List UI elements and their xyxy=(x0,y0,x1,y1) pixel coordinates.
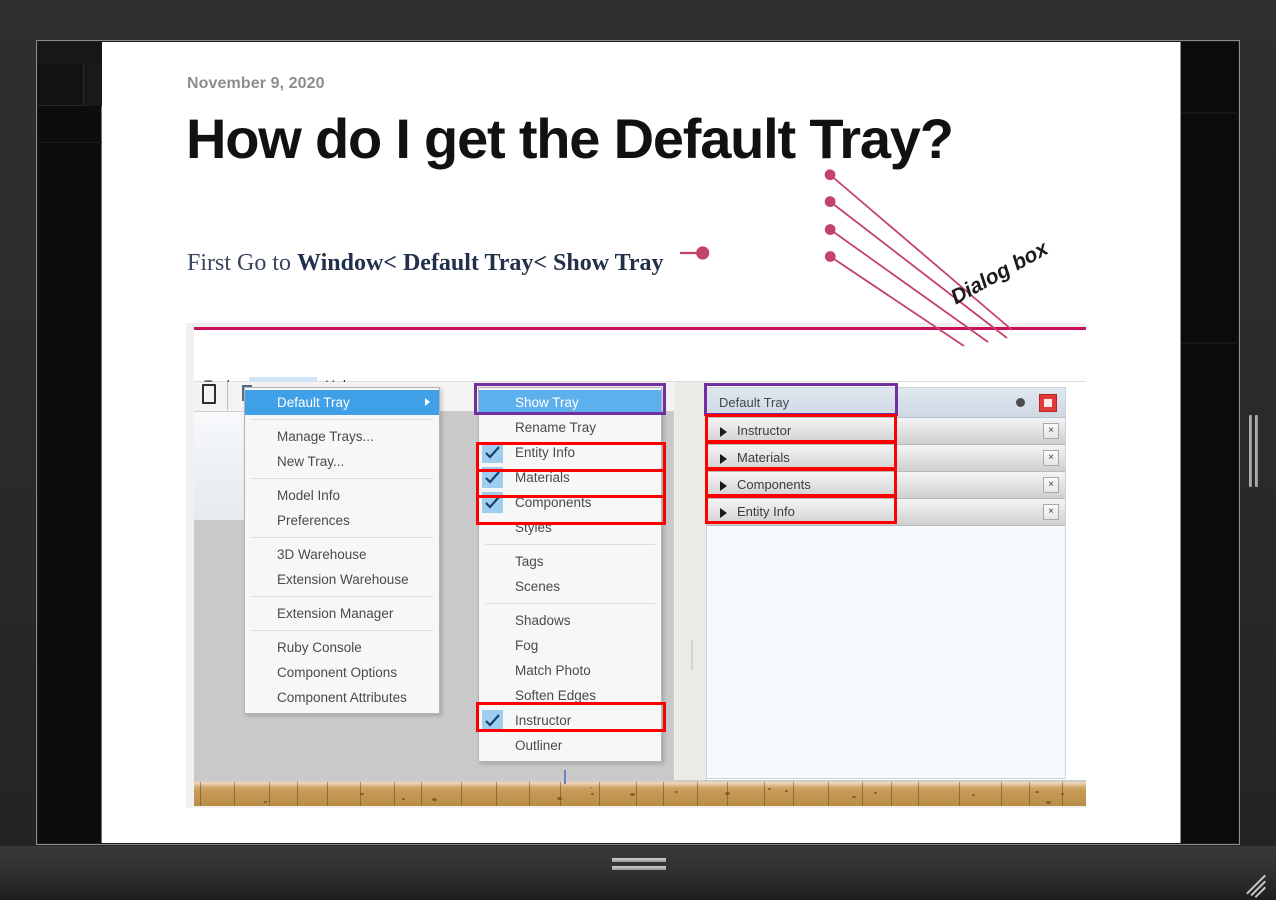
document-page: November 9, 2020 How do I get the Defaul… xyxy=(102,42,1180,843)
floor-knot xyxy=(557,797,562,800)
submenu-item-entity-info[interactable]: Entity Info xyxy=(479,440,661,465)
default-tray-submenu[interactable]: Show Tray Rename Tray Entity Info Materi… xyxy=(478,387,662,762)
floor-knot xyxy=(768,788,771,790)
menu-item-label: Default Tray xyxy=(277,395,350,410)
menu-item-model-info[interactable]: Model Info xyxy=(245,483,439,508)
submenu-item-label: Instructor xyxy=(515,713,571,728)
checkmark-icon xyxy=(482,442,503,463)
floor-plank xyxy=(918,782,919,806)
floor-knot xyxy=(874,792,877,794)
submenu-separator xyxy=(485,603,655,604)
submenu-item-outliner[interactable]: Outliner xyxy=(479,733,661,758)
submenu-item-shadows[interactable]: Shadows xyxy=(479,608,661,633)
gutter-tick xyxy=(691,640,693,670)
checkmark-icon xyxy=(482,492,503,513)
grip-line xyxy=(1249,415,1252,487)
floor-plank xyxy=(496,782,497,806)
floor-plank xyxy=(529,782,530,806)
floor-plank xyxy=(764,782,765,806)
menu-separator xyxy=(251,478,433,479)
submenu-item-label: Entity Info xyxy=(515,445,575,460)
checkmark-icon xyxy=(482,710,503,731)
floor-plank xyxy=(394,782,395,806)
floor-plank xyxy=(636,782,637,806)
menu-separator xyxy=(251,537,433,538)
menu-item-preferences[interactable]: Preferences xyxy=(245,508,439,533)
triangle-right-icon[interactable] xyxy=(720,454,727,464)
submenu-item-instructor[interactable]: Instructor xyxy=(479,708,661,733)
close-icon[interactable] xyxy=(1039,394,1057,412)
floor-knot xyxy=(360,793,364,795)
submenu-item-tags[interactable]: Tags xyxy=(479,549,661,574)
submenu-item-soften-edges[interactable]: Soften Edges xyxy=(479,683,661,708)
window-dropdown-menu[interactable]: Default Tray Manage Trays... New Tray...… xyxy=(244,387,440,714)
tool-icon-a[interactable] xyxy=(202,384,216,404)
floor-knot xyxy=(432,798,437,801)
floor-plank xyxy=(1001,782,1002,806)
floor-plank xyxy=(862,782,863,806)
tray-title-label: Default Tray xyxy=(719,395,789,410)
viewport-sky xyxy=(194,412,246,520)
device-frame: November 9, 2020 How do I get the Defaul… xyxy=(0,0,1276,900)
default-tray-dialog[interactable]: Default Tray Instructor × Materials × Co xyxy=(706,387,1066,779)
tray-section-materials[interactable]: Materials × xyxy=(707,445,1065,472)
floor-knot xyxy=(1035,791,1039,793)
submenu-item-label: Materials xyxy=(515,470,570,485)
menu-item-ruby-console[interactable]: Ruby Console xyxy=(245,635,439,660)
app-menu-bar: Tools Window Help xyxy=(194,330,1086,382)
resize-corner-icon[interactable] xyxy=(1240,864,1266,890)
tray-section-instructor[interactable]: Instructor × xyxy=(707,418,1065,445)
grip-line xyxy=(612,858,666,862)
subtitle-path: Window< Default Tray< Show Tray xyxy=(297,250,664,276)
section-close-icon[interactable]: × xyxy=(1043,477,1059,493)
document-date: November 9, 2020 xyxy=(187,75,325,93)
grip-line xyxy=(1255,415,1258,487)
triangle-right-icon[interactable] xyxy=(720,481,727,491)
tray-section-label: Instructor xyxy=(737,423,791,438)
menu-item-component-options[interactable]: Component Options xyxy=(245,660,439,685)
floor-plank xyxy=(891,782,892,806)
floor-plank xyxy=(200,782,201,806)
floor-plank xyxy=(269,782,270,806)
floor-plank xyxy=(599,782,600,806)
tray-section-components[interactable]: Components × xyxy=(707,472,1065,499)
tray-section-label: Components xyxy=(737,477,811,492)
menu-item-default-tray[interactable]: Default Tray xyxy=(245,390,439,415)
floor-plank xyxy=(234,782,235,806)
subtitle-lead: First Go to xyxy=(187,250,297,276)
floor-plank xyxy=(697,782,698,806)
pin-icon[interactable] xyxy=(1016,398,1025,407)
submenu-item-match-photo[interactable]: Match Photo xyxy=(479,658,661,683)
submenu-item-components[interactable]: Components xyxy=(479,490,661,515)
floor-plank xyxy=(421,782,422,806)
menu-item-new-tray[interactable]: New Tray... xyxy=(245,449,439,474)
toolbar-divider xyxy=(227,382,228,410)
submenu-item-show-tray[interactable]: Show Tray xyxy=(479,390,661,415)
floor-plank xyxy=(959,782,960,806)
floor-knot xyxy=(725,792,730,795)
floor-knot xyxy=(852,796,856,798)
floor-knot xyxy=(1046,801,1051,804)
submenu-item-scenes[interactable]: Scenes xyxy=(479,574,661,599)
vertical-drag-handle-icon[interactable] xyxy=(1246,415,1260,487)
bottom-bar xyxy=(0,846,1276,900)
checkmark-icon xyxy=(482,467,503,488)
tray-section-entity-info[interactable]: Entity Info × xyxy=(707,499,1065,526)
left-side-panel[interactable] xyxy=(38,42,102,843)
floor-knot xyxy=(785,790,788,792)
section-close-icon[interactable]: × xyxy=(1043,450,1059,466)
dialog-box-annotation: Dialog box xyxy=(947,237,1053,310)
menu-separator xyxy=(251,596,433,597)
submenu-item-styles[interactable]: Styles xyxy=(479,515,661,540)
triangle-right-icon[interactable] xyxy=(720,427,727,437)
tray-section-label: Entity Info xyxy=(737,504,795,519)
menu-item-manage-trays[interactable]: Manage Trays... xyxy=(245,424,439,449)
horizontal-drag-handle-icon[interactable] xyxy=(612,858,666,872)
left-panel-block-a xyxy=(38,64,84,106)
floor-plank xyxy=(793,782,794,806)
tray-section-label: Materials xyxy=(737,450,790,465)
menu-item-component-attributes[interactable]: Component Attributes xyxy=(245,685,439,710)
floor-knot xyxy=(264,801,267,803)
submenu-item-materials[interactable]: Materials xyxy=(479,465,661,490)
menu-item-extension-manager[interactable]: Extension Manager xyxy=(245,601,439,626)
submenu-item-label: Components xyxy=(515,495,592,510)
floor-plank xyxy=(461,782,462,806)
tray-title-bar: Default Tray xyxy=(707,388,1065,418)
menu-item-3d-warehouse[interactable]: 3D Warehouse xyxy=(245,542,439,567)
submenu-item-fog[interactable]: Fog xyxy=(479,633,661,658)
floor-knot xyxy=(590,787,592,788)
floor-plank xyxy=(327,782,328,806)
left-panel-block-b xyxy=(84,64,102,106)
menu-separator xyxy=(251,419,433,420)
close-glyph xyxy=(1044,399,1052,407)
section-close-icon[interactable]: × xyxy=(1043,504,1059,520)
grip-line xyxy=(612,866,666,870)
floor-plank xyxy=(1029,782,1030,806)
submenu-item-rename-tray[interactable]: Rename Tray xyxy=(479,415,661,440)
submenu-bottom-tick xyxy=(564,770,566,784)
tray-content-area xyxy=(707,526,1065,778)
floor-knot xyxy=(402,798,405,800)
floor-knot xyxy=(630,793,635,796)
wood-floor-strip xyxy=(194,780,1086,806)
right-side-panel[interactable] xyxy=(1180,42,1238,843)
left-panel-block-top xyxy=(38,42,102,64)
menu-item-extension-warehouse[interactable]: Extension Warehouse xyxy=(245,567,439,592)
menu-separator xyxy=(251,630,433,631)
triangle-right-icon[interactable] xyxy=(720,508,727,518)
floor-knot xyxy=(675,791,678,793)
right-panel-divider-1 xyxy=(1181,112,1239,114)
floor-knot xyxy=(591,793,594,795)
floor-plank xyxy=(560,782,561,806)
left-panel-divider xyxy=(38,142,102,143)
submenu-separator xyxy=(485,544,655,545)
floor-knot xyxy=(1061,793,1064,795)
tray-gutter xyxy=(675,382,706,780)
floor-plank xyxy=(828,782,829,806)
section-close-icon[interactable]: × xyxy=(1043,423,1059,439)
embedded-screenshot: Tools Window Help xyxy=(186,323,1086,808)
right-panel-divider-2 xyxy=(1181,342,1239,344)
floor-knot xyxy=(972,794,975,796)
chevron-right-icon xyxy=(425,398,430,406)
floor-plank xyxy=(297,782,298,806)
document-subtitle: First Go to Window< Default Tray< Show T… xyxy=(187,250,664,277)
page-title: How do I get the Default Tray? xyxy=(186,110,1126,169)
floor-plank xyxy=(663,782,664,806)
